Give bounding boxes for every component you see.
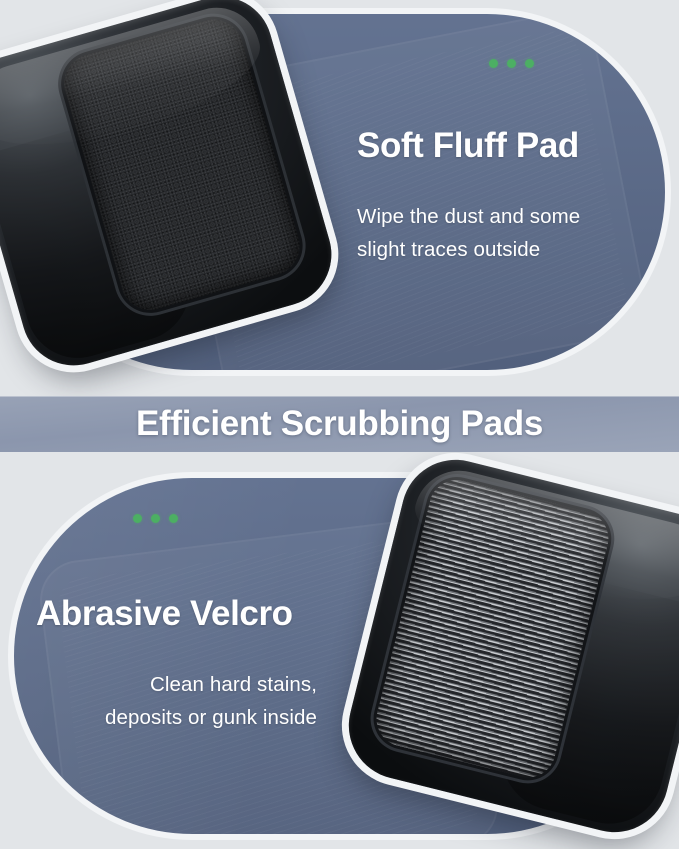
body-line-1: Wipe the dust and some [357, 200, 580, 233]
green-dot-icon [525, 59, 534, 68]
center-banner: Efficient Scrubbing Pads [0, 396, 679, 452]
body-line-1: Clean hard stains, [36, 668, 317, 701]
green-dot-icon [133, 514, 142, 523]
green-dot-icon [507, 59, 516, 68]
status-dots-bottom [133, 514, 178, 523]
banner-title: Efficient Scrubbing Pads [136, 404, 543, 444]
section-body-soft-fluff-pad: Wipe the dust and some slight traces out… [357, 200, 580, 266]
green-dot-icon [489, 59, 498, 68]
section-headline-abrasive-velcro: Abrasive Velcro [36, 596, 293, 633]
section-body-abrasive-velcro: Clean hard stains, deposits or gunk insi… [36, 668, 317, 734]
section-headline-soft-fluff-pad: Soft Fluff Pad [357, 128, 579, 165]
body-line-2: deposits or gunk inside [36, 701, 317, 734]
green-dot-icon [151, 514, 160, 523]
status-dots-top [489, 59, 534, 68]
green-dot-icon [169, 514, 178, 523]
body-line-2: slight traces outside [357, 233, 580, 266]
infographic-root: Soft Fluff Pad Wipe the dust and some sl… [0, 0, 679, 849]
